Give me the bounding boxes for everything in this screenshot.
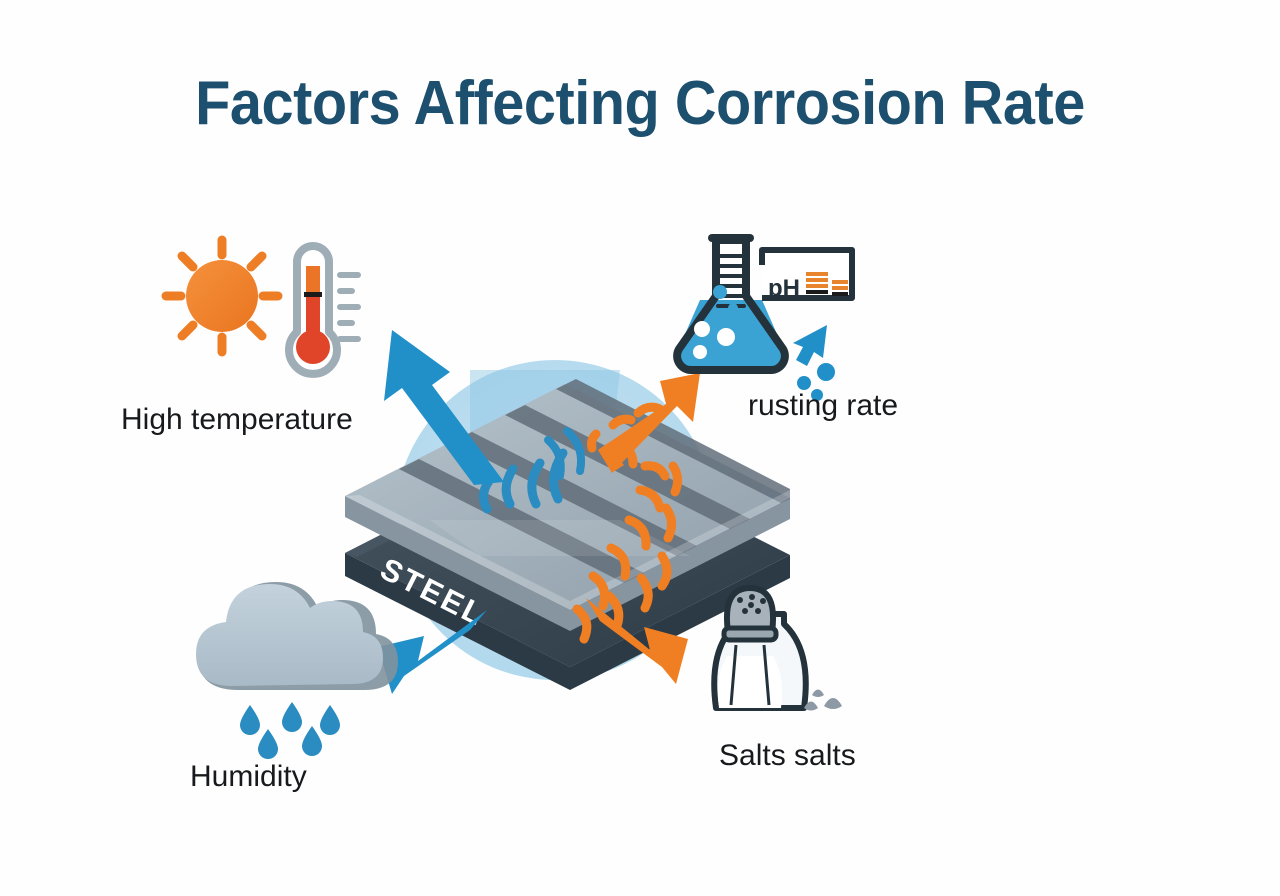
thermometer-icon xyxy=(289,246,361,374)
sun-icon xyxy=(166,240,278,352)
label-salts: Salts salts xyxy=(719,739,856,773)
label-rusting-rate: rusting rate xyxy=(748,389,898,423)
infographic-canvas: Factors Affecting Corrosion Rate xyxy=(0,0,1280,896)
salt-grains xyxy=(804,690,842,711)
label-high-temperature: High temperature xyxy=(121,403,353,437)
raindrops xyxy=(240,702,340,759)
label-humidity: Humidity xyxy=(190,760,307,794)
rain-cloud-icon xyxy=(196,582,398,759)
salt-shaker-icon xyxy=(714,588,842,711)
ph-card-label: pH xyxy=(768,275,800,302)
ph-card-icon: pH xyxy=(762,250,852,302)
